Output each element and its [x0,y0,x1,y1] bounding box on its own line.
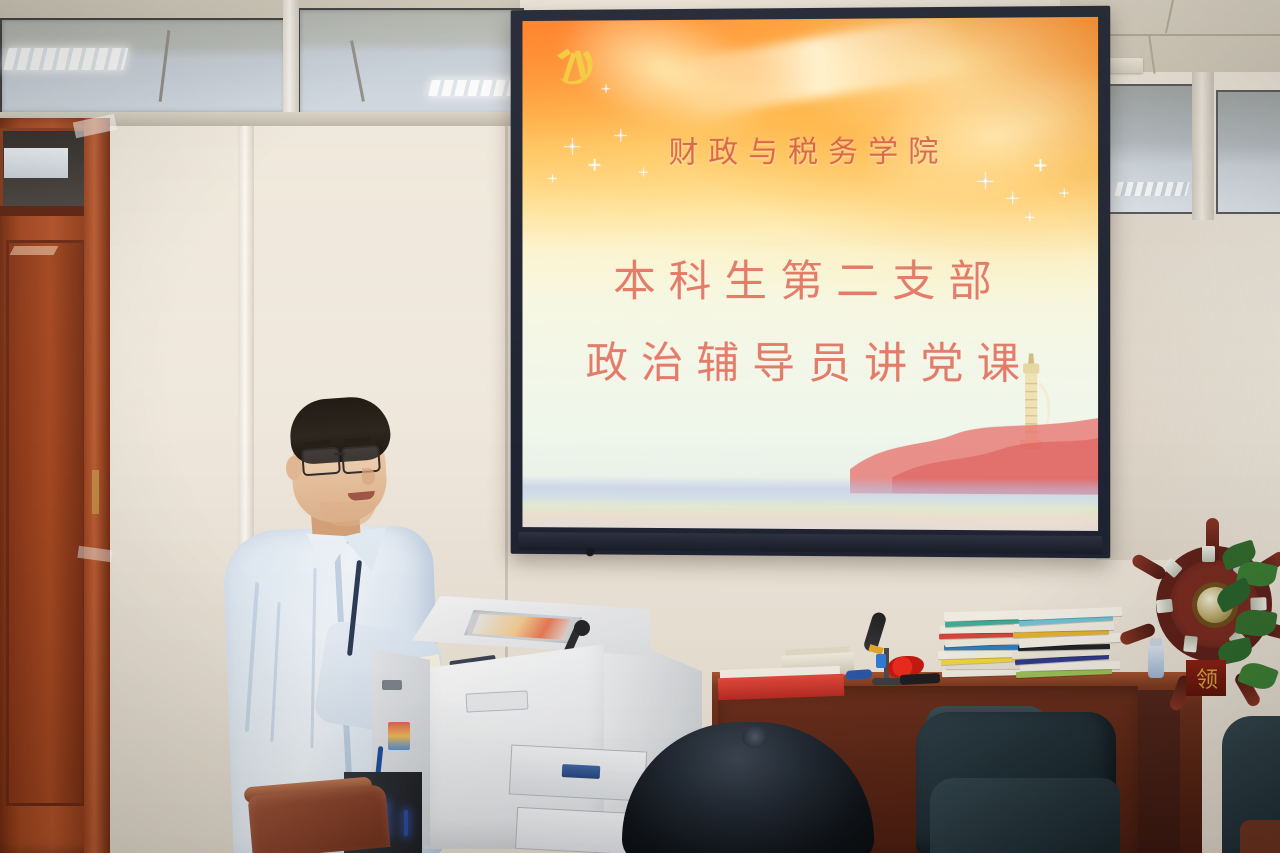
transom-window-band [0,0,520,118]
screen-roller-knob[interactable] [586,547,595,556]
lectern-slot [466,690,529,712]
door-head-trim [0,206,92,216]
presenter-chin [320,502,376,526]
fluorescent-light-icon [3,48,128,70]
screen-rainbow-band [522,475,1098,530]
pen[interactable] [846,669,873,680]
microphone-base [872,678,902,685]
leather-chair-seat [930,778,1120,853]
microphone-clip [876,654,886,668]
wheel-inlay [1156,599,1173,614]
wooden-chair-foreground[interactable] [248,784,391,853]
plant-leaf [1237,659,1279,694]
wheel-inlay [1202,546,1215,562]
book-stack [1014,586,1118,676]
projection-screen-surface: 财政与税务学院 本科生第二支部 政治辅导员讲党课 [522,17,1098,531]
wheel-inlay [1183,635,1198,652]
door-highlight [10,246,59,255]
lectern-sticker [388,722,410,750]
plaque-character: 领 [1190,662,1224,694]
window-pane-left [1096,84,1194,214]
lectern-drawer-lower[interactable] [515,807,639,853]
drawer-handle[interactable] [562,764,601,779]
hair-parting [742,726,768,748]
window-mullion [1192,72,1214,220]
window-mullion [283,0,299,120]
presenter-nose [362,468,375,485]
pc-led-indicator [404,810,408,836]
slide-sparkle-icon [603,86,608,91]
door-panel [6,240,86,806]
right-window-band [1088,62,1280,222]
fluorescent-light-icon [428,80,518,96]
red-folder[interactable] [718,674,845,700]
lecture-room-photo: 财政与税务学院 本科生第二支部 政治辅导员讲党课 [0,0,1280,853]
slide-sparkle-icon [1027,215,1032,220]
plant-leaf [1234,607,1277,638]
presenter-remote[interactable] [900,673,940,685]
projection-screen-frame: 财政与税务学院 本科生第二支部 政治辅导员讲党课 [511,6,1111,559]
slide-organization-text: 财政与税务学院 [522,126,1098,172]
screen-bottom-bar [519,532,1103,554]
slide-sparkle-icon [981,176,990,185]
slide-sparkle-icon [1009,195,1016,202]
window-light-glint [1114,182,1189,196]
window-pane-right [1216,90,1280,214]
door-transom-glass [4,148,68,178]
slide-title-line1: 本科生第二支部 [522,247,1098,309]
lectern-control-button[interactable] [382,680,402,690]
chair-wood-armrest [1240,820,1280,853]
glasses-lens-left [301,447,341,477]
slide-sparkle-icon [1062,190,1067,195]
wall-shadow [1096,210,1280,560]
cpc-hammer-sickle-emblem-icon [550,44,601,90]
slide-sparkle-icon [550,176,555,181]
glasses-lens-right [341,445,381,475]
transom-pane-right [298,8,524,116]
door-hinge [92,470,99,514]
lectern-microphone-icon[interactable] [574,620,590,636]
